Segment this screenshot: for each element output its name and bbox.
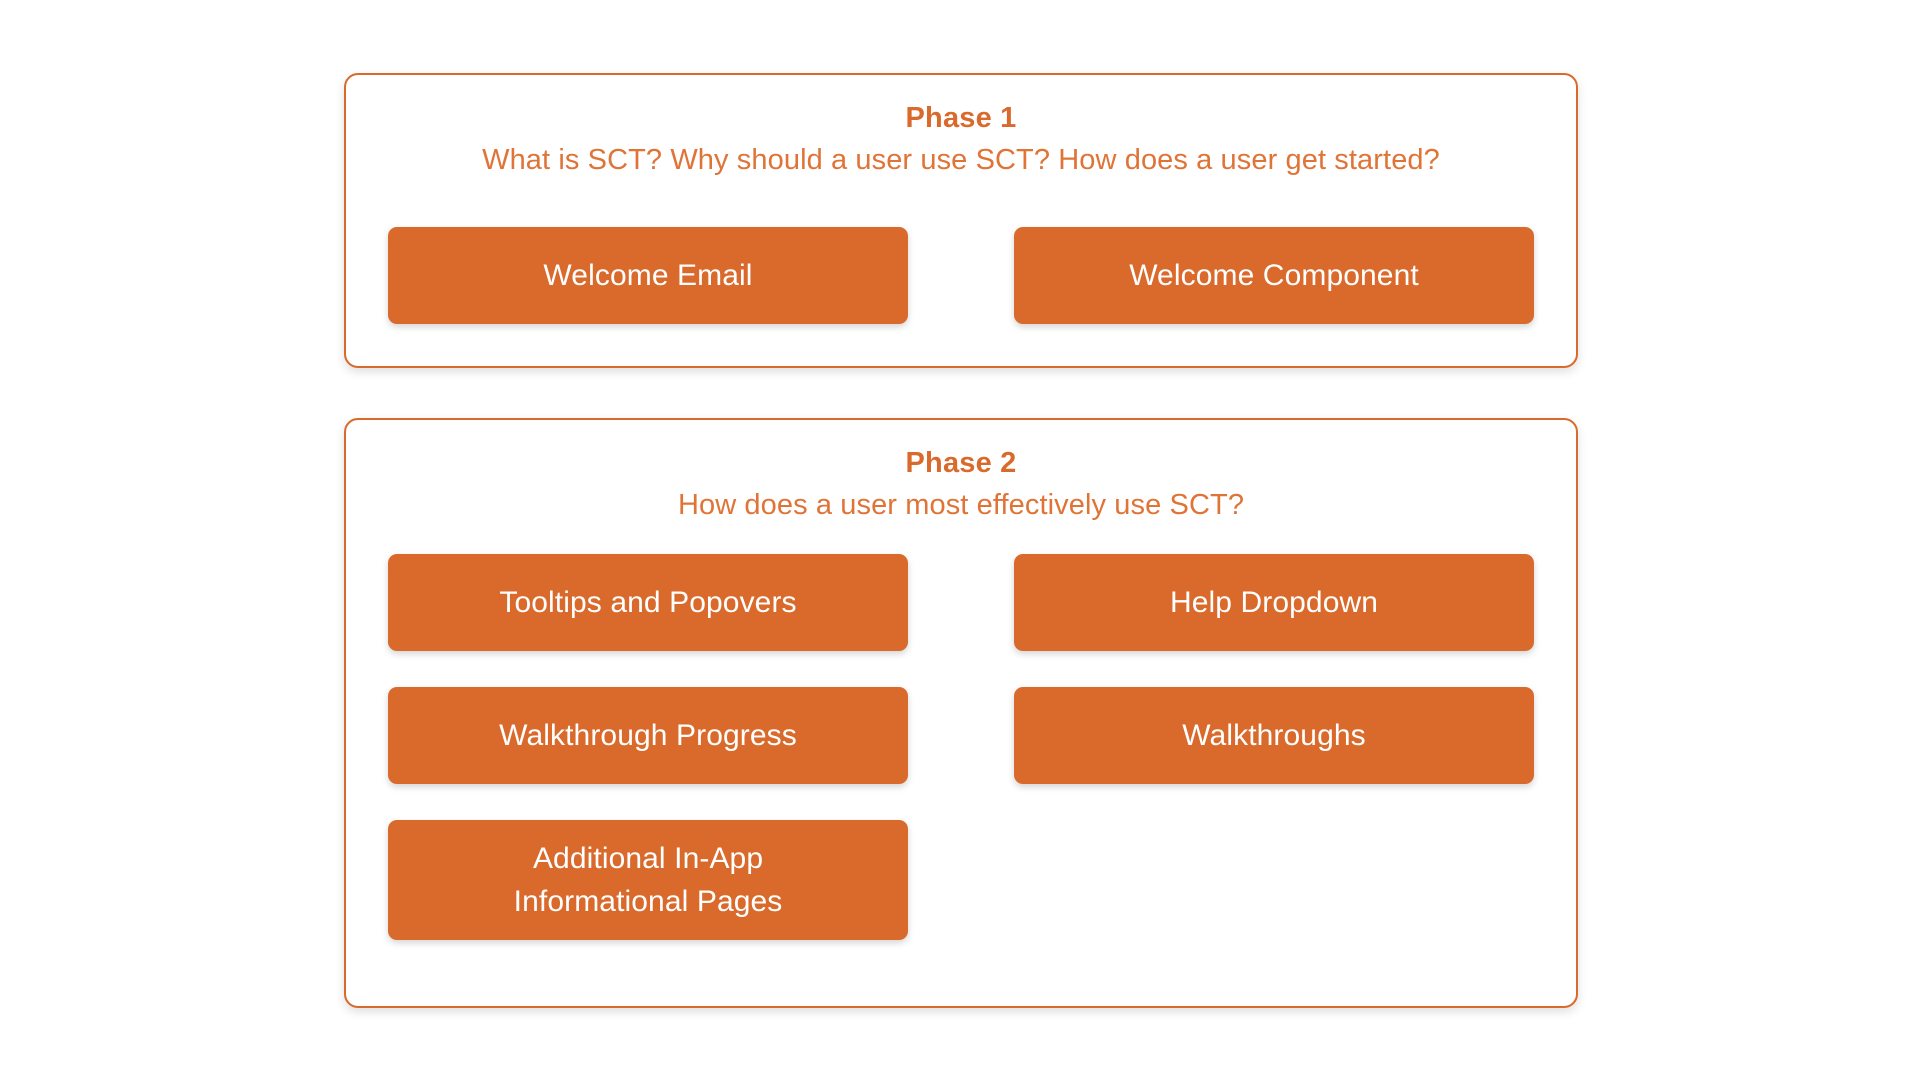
phase-2-panel: Phase 2 How does a user most effectively… <box>344 418 1578 1008</box>
phase-1-subtitle: What is SCT? Why should a user use SCT? … <box>346 139 1576 181</box>
additional-in-app-informational-pages-button[interactable]: Additional In-App Informational Pages <box>388 820 908 940</box>
walkthrough-progress-button[interactable]: Walkthrough Progress <box>388 687 908 784</box>
phase-2-title: Phase 2 <box>346 442 1576 484</box>
phase-2-row-3: Additional In-App Informational Pages <box>388 820 1534 940</box>
phase-1-header: Phase 1 What is SCT? Why should a user u… <box>346 75 1576 181</box>
phase-2-button-grid: Tooltips and Popovers Help Dropdown Walk… <box>388 554 1534 940</box>
slide-canvas: Phase 1 What is SCT? Why should a user u… <box>0 0 1920 1080</box>
walkthroughs-button[interactable]: Walkthroughs <box>1014 687 1534 784</box>
welcome-email-button[interactable]: Welcome Email <box>388 227 908 324</box>
welcome-component-button[interactable]: Welcome Component <box>1014 227 1534 324</box>
phase-2-row-2: Walkthrough Progress Walkthroughs <box>388 687 1534 784</box>
phase-2-header: Phase 2 How does a user most effectively… <box>346 420 1576 526</box>
tooltips-and-popovers-button[interactable]: Tooltips and Popovers <box>388 554 908 651</box>
phase-1-title: Phase 1 <box>346 97 1576 139</box>
phase-2-row-1: Tooltips and Popovers Help Dropdown <box>388 554 1534 651</box>
phase-1-panel: Phase 1 What is SCT? Why should a user u… <box>344 73 1578 368</box>
phase-1-button-grid: Welcome Email Welcome Component <box>388 227 1534 324</box>
help-dropdown-button[interactable]: Help Dropdown <box>1014 554 1534 651</box>
phase-2-subtitle: How does a user most effectively use SCT… <box>346 484 1576 526</box>
phase-1-row-1: Welcome Email Welcome Component <box>388 227 1534 324</box>
